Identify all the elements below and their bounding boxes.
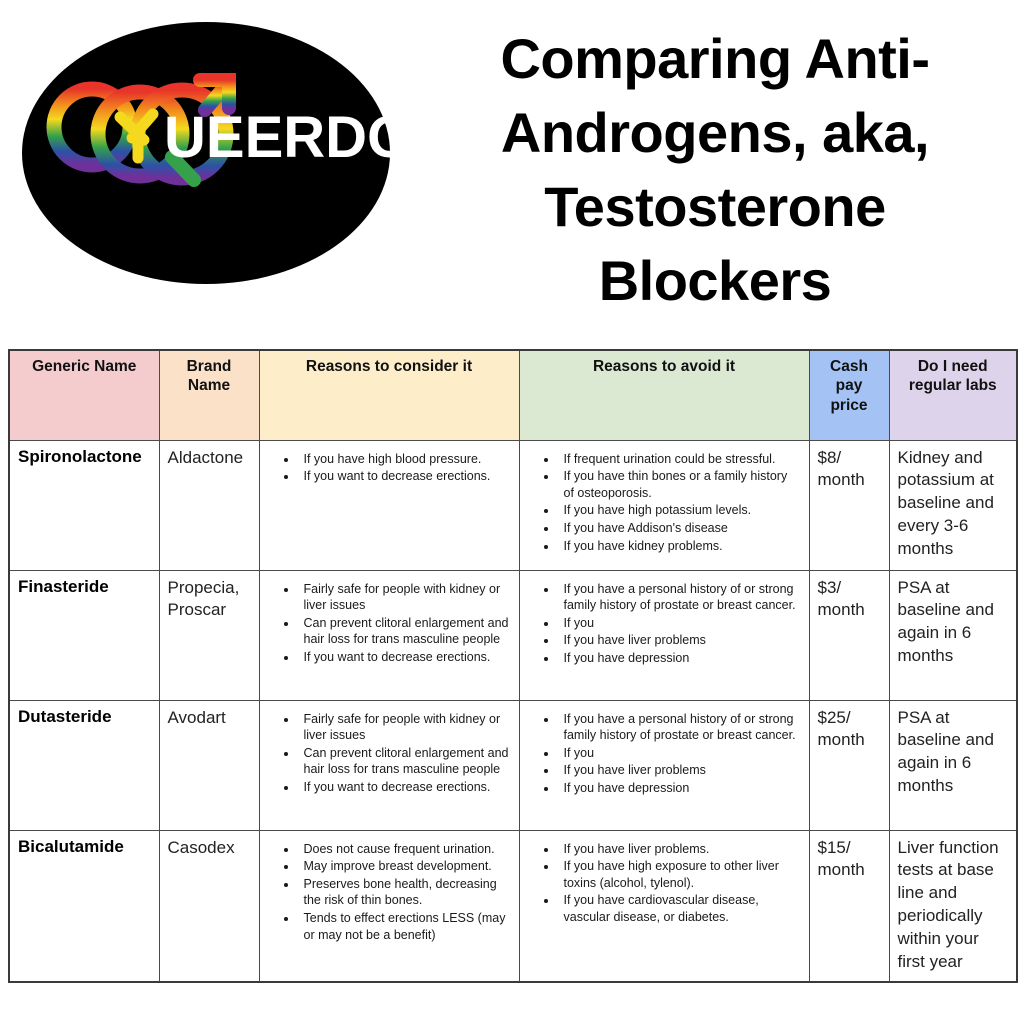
comparison-table-wrapper: Generic Name Brand Name Reasons to consi…	[8, 349, 1016, 983]
cell-reasons-consider: Fairly safe for people with kidney or li…	[259, 700, 519, 830]
bullet-list: If frequent urination could be stressful…	[528, 451, 801, 555]
table-body: Spironolactone Aldactone If you have hig…	[9, 440, 1017, 982]
cell-reasons-avoid: If you have a personal history of or str…	[519, 570, 809, 700]
cell-generic-name: Finasteride	[9, 570, 159, 700]
cell-generic-name: Spironolactone	[9, 440, 159, 570]
list-item: If you have thin bones or a family histo…	[558, 468, 801, 501]
bullet-list: Fairly safe for people with kidney or li…	[268, 711, 511, 796]
cell-reasons-consider: If you have high blood pressure. If you …	[259, 440, 519, 570]
list-item: If you have depression	[558, 650, 801, 667]
page-title-line-2: Androgens, aka,	[420, 96, 1010, 170]
list-item: If you want to decrease erections.	[298, 779, 511, 796]
list-item: If you have depression	[558, 780, 801, 797]
list-item: If you	[558, 745, 801, 762]
cell-reasons-avoid: If frequent urination could be stressful…	[519, 440, 809, 570]
list-item: If you	[558, 615, 801, 632]
cell-cash-pay-price: $15/ month	[809, 830, 889, 982]
page-title-line-1: Comparing Anti-	[420, 22, 1010, 96]
table-row: Bicalutamide Casodex Does not cause freq…	[9, 830, 1017, 982]
table-row: Spironolactone Aldactone If you have hig…	[9, 440, 1017, 570]
cell-cash-pay-price: $25/ month	[809, 700, 889, 830]
logo-wordmark: UEERDOC	[164, 105, 390, 170]
table-row: Finasteride Propecia, Proscar Fairly saf…	[9, 570, 1017, 700]
cell-reasons-consider: Does not cause frequent urination. May i…	[259, 830, 519, 982]
bullet-list: If you have a personal history of or str…	[528, 581, 801, 667]
page-title: Comparing Anti- Androgens, aka, Testoste…	[420, 22, 1010, 318]
list-item: If you have a personal history of or str…	[558, 711, 801, 744]
page-title-line-4: Blockers	[420, 244, 1010, 318]
list-item: If you have high potassium levels.	[558, 502, 801, 519]
page-header: UEERDOC Comparing Anti- Androgens, aka, …	[0, 0, 1024, 332]
bullet-list: Fairly safe for people with kidney or li…	[268, 581, 511, 666]
cell-generic-name: Dutasteride	[9, 700, 159, 830]
list-item: If you have high blood pressure.	[298, 451, 511, 468]
cell-brand-name: Propecia, Proscar	[159, 570, 259, 700]
cell-reasons-avoid: If you have a personal history of or str…	[519, 700, 809, 830]
list-item: Fairly safe for people with kidney or li…	[298, 581, 511, 614]
bullet-list: If you have high blood pressure. If you …	[268, 451, 511, 485]
queerdoc-logo: UEERDOC	[22, 22, 390, 284]
infographic-page: UEERDOC Comparing Anti- Androgens, aka, …	[0, 0, 1024, 1024]
table-header-row: Generic Name Brand Name Reasons to consi…	[9, 350, 1017, 440]
list-item: Preserves bone health, decreasing the ri…	[298, 876, 511, 909]
cell-regular-labs: PSA at baseline and again in 6 months	[889, 570, 1017, 700]
list-item: If you have a personal history of or str…	[558, 581, 801, 614]
list-item: Does not cause frequent urination.	[298, 841, 511, 858]
column-header-generic-name: Generic Name	[9, 350, 159, 440]
page-title-line-3: Testosterone	[420, 170, 1010, 244]
cell-cash-pay-price: $3/ month	[809, 570, 889, 700]
list-item: If you have liver problems.	[558, 841, 801, 858]
list-item: If you want to decrease erections.	[298, 649, 511, 666]
logo-artwork: UEERDOC	[22, 22, 390, 284]
comparison-table: Generic Name Brand Name Reasons to consi…	[8, 349, 1018, 983]
column-header-cash-pay-price: Cash pay price	[809, 350, 889, 440]
column-header-reasons-avoid: Reasons to avoid it	[519, 350, 809, 440]
cell-cash-pay-price: $8/ month	[809, 440, 889, 570]
list-item: If you have high exposure to other liver…	[558, 858, 801, 891]
list-item: If you have cardiovascular disease, vasc…	[558, 892, 801, 925]
cell-regular-labs: Liver function tests at base line and pe…	[889, 830, 1017, 982]
cell-brand-name: Avodart	[159, 700, 259, 830]
cell-brand-name: Aldactone	[159, 440, 259, 570]
list-item: Can prevent clitoral enlargement and hai…	[298, 745, 511, 778]
list-item: Tends to effect erections LESS (may or m…	[298, 910, 511, 943]
cell-regular-labs: Kidney and potassium at baseline and eve…	[889, 440, 1017, 570]
list-item: If frequent urination could be stressful…	[558, 451, 801, 468]
list-item: If you have kidney problems.	[558, 538, 801, 555]
bullet-list: Does not cause frequent urination. May i…	[268, 841, 511, 944]
cell-brand-name: Casodex	[159, 830, 259, 982]
column-header-reasons-consider: Reasons to consider it	[259, 350, 519, 440]
cell-reasons-consider: Fairly safe for people with kidney or li…	[259, 570, 519, 700]
list-item: If you have liver problems	[558, 762, 801, 779]
list-item: Can prevent clitoral enlargement and hai…	[298, 615, 511, 648]
column-header-regular-labs: Do I need regular labs	[889, 350, 1017, 440]
list-item: Fairly safe for people with kidney or li…	[298, 711, 511, 744]
list-item: May improve breast development.	[298, 858, 511, 875]
cell-generic-name: Bicalutamide	[9, 830, 159, 982]
list-item: If you want to decrease erections.	[298, 468, 511, 485]
list-item: If you have Addison's disease	[558, 520, 801, 537]
list-item: If you have liver problems	[558, 632, 801, 649]
cell-regular-labs: PSA at baseline and again in 6 months	[889, 700, 1017, 830]
bullet-list: If you have a personal history of or str…	[528, 711, 801, 797]
column-header-brand-name: Brand Name	[159, 350, 259, 440]
bullet-list: If you have liver problems. If you have …	[528, 841, 801, 926]
table-row: Dutasteride Avodart Fairly safe for peop…	[9, 700, 1017, 830]
cell-reasons-avoid: If you have liver problems. If you have …	[519, 830, 809, 982]
